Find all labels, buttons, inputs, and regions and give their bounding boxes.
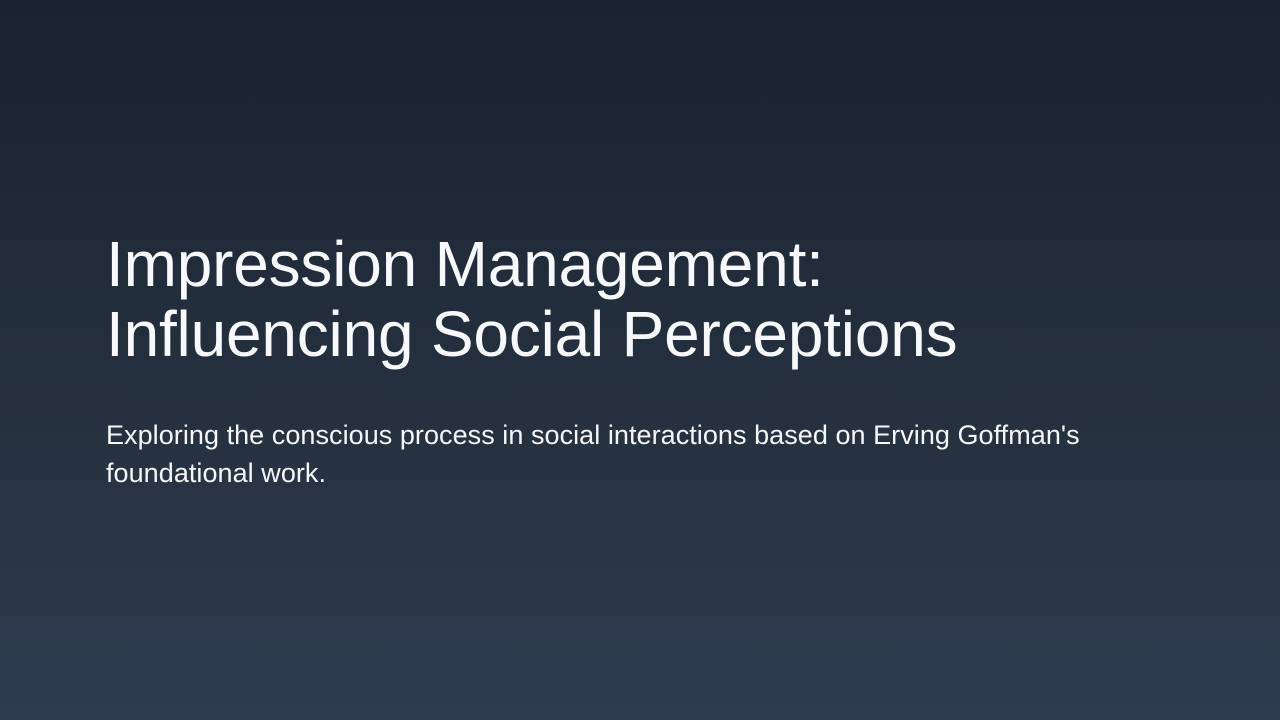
title-slide: Impression Management: Influencing Socia… [0,0,1280,720]
slide-title: Impression Management: Influencing Socia… [106,229,1081,369]
slide-subtitle: Exploring the conscious process in socia… [106,416,1106,492]
slide-text-block: Impression Management: Influencing Socia… [106,0,1116,720]
